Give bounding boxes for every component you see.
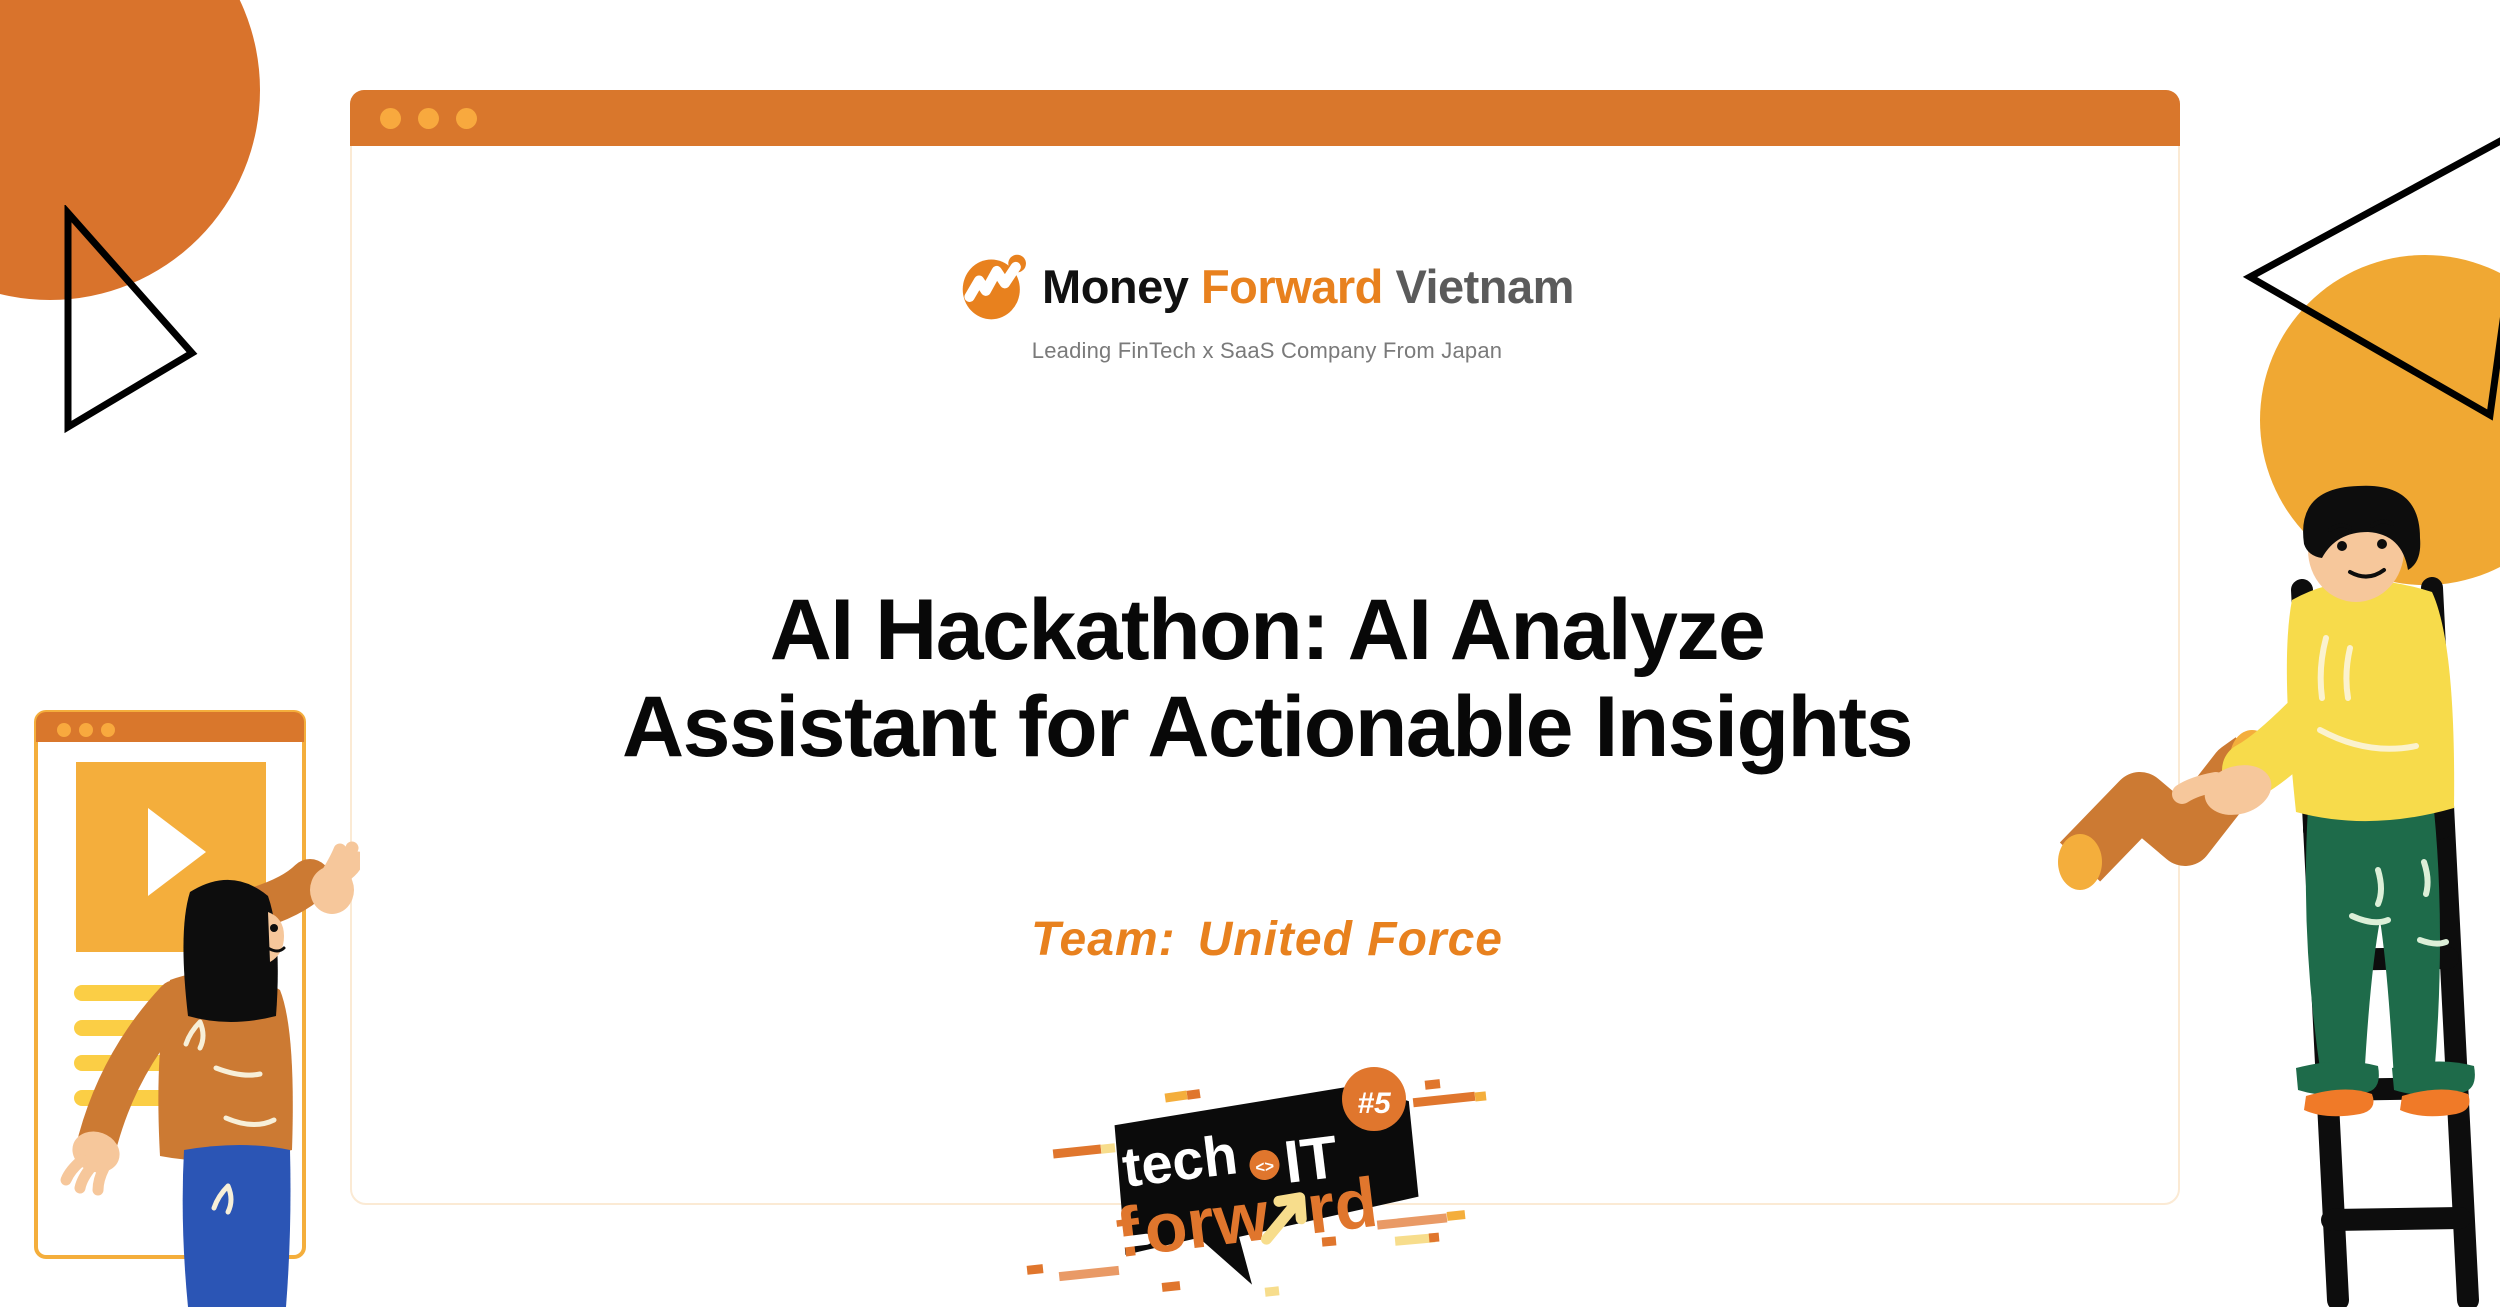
browser-window-card: Money Forward Vietnam Leading FinTech x … [350,90,2180,1205]
wordmark-forward: Forward [1201,260,1383,313]
decorative-triangle-right-icon [2240,115,2500,425]
window-dot-minimize-icon[interactable] [418,108,439,129]
pants [2306,800,2440,1086]
wordmark-vietnam: Vietnam [1395,260,1574,313]
team-line: Team:United Force [352,912,2182,967]
team-label: Team: [1031,913,1176,966]
tech-it-forward-logo: tech <> IT f orw [352,1047,2182,1297]
logo-badge-number: #5 [1357,1087,1392,1120]
logo-word-forward-rd: rd [1302,1163,1381,1249]
illustration-person-on-ladder [2020,470,2500,1307]
logo-word-forward-orw: orw [1140,1176,1274,1269]
money-forward-wordmark: Money Forward Vietnam [1042,263,1574,310]
money-forward-logo-row: Money Forward Vietnam [960,252,1574,320]
illustration-waving-woman [30,700,360,1307]
logo-number-badge: #5 [1342,1067,1406,1131]
window-dot-maximize-icon[interactable] [456,108,477,129]
page-title: AI Hackathon: AI Analyze Assistant for A… [412,582,2122,776]
tech-it-forward-logo-svg: tech <> IT f orw [1017,1047,1517,1297]
window-dot-close-icon[interactable] [380,108,401,129]
svg-text:<>: <> [1255,1158,1276,1177]
page-title-line-1: AI Hackathon: AI Analyze [412,582,2122,679]
money-forward-mark-icon [960,252,1028,320]
team-name: United Force [1198,913,1503,966]
logo-tagline: Leading FinTech x SaaS Company From Japa… [352,338,2182,364]
wordmark-money: Money [1042,260,1188,313]
slide-canvas: Money Forward Vietnam Leading FinTech x … [0,0,2500,1307]
money-forward-logo-block: Money Forward Vietnam Leading FinTech x … [352,252,2182,364]
page-title-line-2: Assistant for Actionable Insights [412,679,2122,776]
browser-titlebar [350,90,2180,146]
